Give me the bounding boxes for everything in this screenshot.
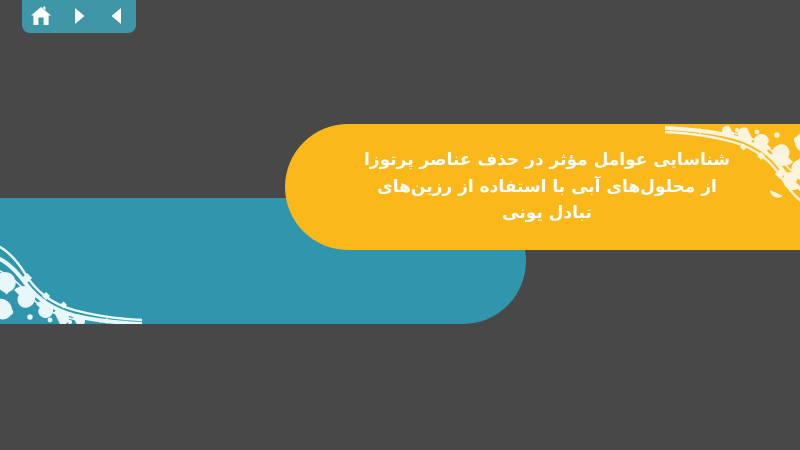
forward-triangle-icon bbox=[69, 6, 89, 26]
title-line-2: از محلول‌های آبی با استفاده از رزین‌های bbox=[377, 174, 717, 200]
next-slide-button[interactable] bbox=[65, 3, 93, 29]
home-icon bbox=[30, 6, 52, 27]
previous-slide-button[interactable] bbox=[103, 3, 131, 29]
title-line-1: شناسایی عوامل مؤثر در حذف عناصر پرتوزا bbox=[364, 147, 730, 173]
title-banner: شناسایی عوامل مؤثر در حذف عناصر پرتوزا ا… bbox=[285, 124, 800, 250]
back-triangle-icon bbox=[107, 6, 127, 26]
presentation-slide: شناسایی عوامل مؤثر در حذف عناصر پرتوزا ا… bbox=[0, 0, 800, 450]
home-button[interactable] bbox=[27, 3, 55, 29]
slide-title: شناسایی عوامل مؤثر در حذف عناصر پرتوزا ا… bbox=[285, 124, 800, 250]
arabesque-ornament-teal bbox=[0, 204, 142, 324]
title-line-3: تبادل یونی bbox=[502, 200, 592, 226]
navigation-bar bbox=[22, 0, 136, 33]
